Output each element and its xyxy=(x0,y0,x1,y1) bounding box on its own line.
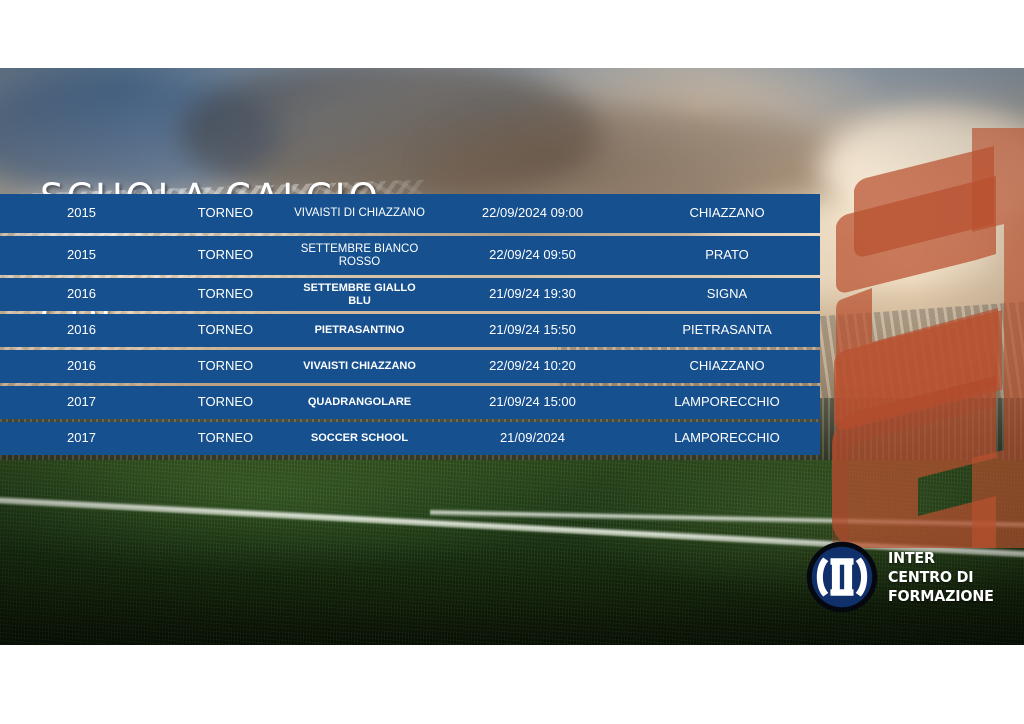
cell-tipo: TORNEO xyxy=(166,422,288,455)
cell-data-ora: 22/09/2024 09:00 xyxy=(434,194,634,233)
table-row: 2015TORNEOVIVAISTI DI CHIAZZANO22/09/202… xyxy=(0,194,820,233)
table-row: 2016TORNEOPIETRASANTINO21/09/24 15:50PIE… xyxy=(0,314,820,347)
table-row: 2017TORNEOSOCCER SCHOOL21/09/2024LAMPORE… xyxy=(0,422,820,455)
cell-luogo: CHIAZZANO xyxy=(634,194,820,233)
cell-data-ora: 21/09/24 15:00 xyxy=(434,386,634,419)
cell-anno: 2016 xyxy=(0,314,166,347)
cell-evento: SETTEMBRE GIALLO BLU xyxy=(288,278,434,311)
schedule-table: 2015TORNEOVIVAISTI DI CHIAZZANO22/09/202… xyxy=(0,194,820,458)
inter-cdf-logo: INTER CENTRO DI FORMAZIONE xyxy=(806,541,1003,613)
cell-tipo: TORNEO xyxy=(166,278,288,311)
table-row: 2016TORNEOSETTEMBRE GIALLO BLU21/09/24 1… xyxy=(0,278,820,311)
cell-data-ora: 21/09/24 19:30 xyxy=(434,278,634,311)
cell-data-ora: 21/09/24 15:50 xyxy=(434,314,634,347)
cell-anno: 2017 xyxy=(0,422,166,455)
cell-evento: VIVAISTI CHIAZZANO xyxy=(288,350,434,383)
stadium-photo-background: SCUOLA CALCIO CDF 2015TORNEOVIVAISTI DI … xyxy=(0,68,1024,645)
logo-line-3: FORMAZIONE xyxy=(888,587,994,606)
cell-data-ora: 21/09/2024 xyxy=(434,422,634,455)
cell-luogo: PIETRASANTA xyxy=(634,314,820,347)
slide-canvas: SCUOLA CALCIO CDF 2015TORNEOVIVAISTI DI … xyxy=(0,0,1024,724)
cell-luogo: CHIAZZANO xyxy=(634,350,820,383)
cell-evento: QUADRANGOLARE xyxy=(288,386,434,419)
cell-luogo: PRATO xyxy=(634,236,820,275)
cell-evento: VIVAISTI DI CHIAZZANO xyxy=(288,194,434,233)
logo-line-1: INTER xyxy=(888,549,994,568)
cell-evento: SETTEMBRE BIANCO ROSSO xyxy=(288,236,434,275)
cell-evento: SOCCER SCHOOL xyxy=(288,422,434,455)
cell-anno: 2016 xyxy=(0,278,166,311)
cell-luogo: LAMPORECCHIO xyxy=(634,386,820,419)
table-row: 2017TORNEOQUADRANGOLARE21/09/24 15:00LAM… xyxy=(0,386,820,419)
cell-tipo: TORNEO xyxy=(166,194,288,233)
cell-anno: 2015 xyxy=(0,194,166,233)
table-row: 2015TORNEOSETTEMBRE BIANCO ROSSO22/09/24… xyxy=(0,236,820,275)
logo-wordmark: INTER CENTRO DI FORMAZIONE xyxy=(888,549,994,606)
cell-anno: 2015 xyxy=(0,236,166,275)
cell-anno: 2017 xyxy=(0,386,166,419)
cell-luogo: LAMPORECCHIO xyxy=(634,422,820,455)
cell-luogo: SIGNA xyxy=(634,278,820,311)
table-row: 2016TORNEOVIVAISTI CHIAZZANO22/09/24 10:… xyxy=(0,350,820,383)
cell-evento: PIETRASANTINO xyxy=(288,314,434,347)
cell-data-ora: 22/09/24 09:50 xyxy=(434,236,634,275)
cell-tipo: TORNEO xyxy=(166,386,288,419)
cell-tipo: TORNEO xyxy=(166,314,288,347)
cell-anno: 2016 xyxy=(0,350,166,383)
cell-tipo: TORNEO xyxy=(166,236,288,275)
inter-badge-icon xyxy=(806,541,878,613)
cell-tipo: TORNEO xyxy=(166,350,288,383)
cell-data-ora: 22/09/24 10:20 xyxy=(434,350,634,383)
logo-line-2: CENTRO DI xyxy=(888,568,994,587)
